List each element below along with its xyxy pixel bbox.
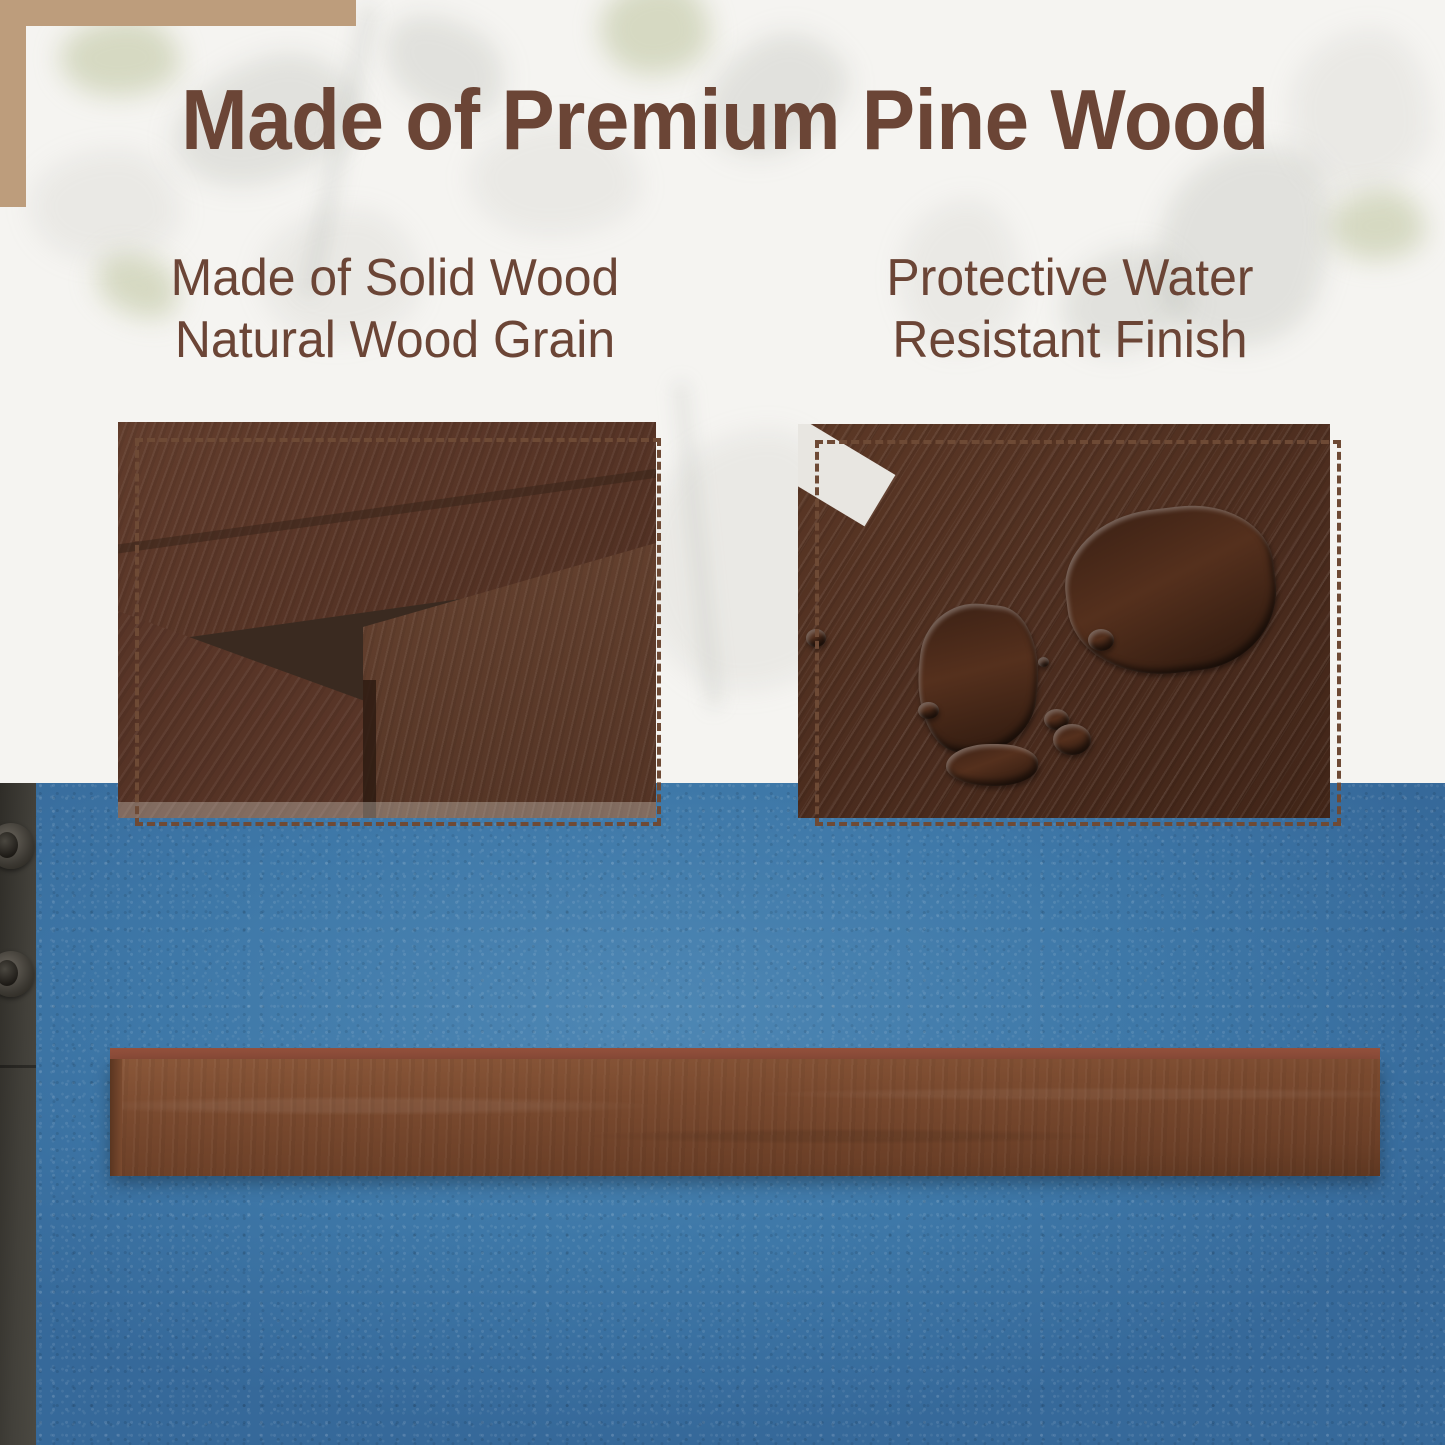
leaf-shadow bbox=[600, 0, 710, 75]
callout-outline-water-resistant bbox=[815, 440, 1341, 826]
page-title: Made of Premium Pine Wood bbox=[100, 75, 1350, 167]
feature-heading-water-resistant: Protective Water Resistant Finish bbox=[811, 247, 1329, 371]
feature-heading-solid-wood: Made of Solid Wood Natural Wood Grain bbox=[121, 247, 668, 371]
corner-accent-top-left bbox=[0, 0, 356, 26]
door-panel bbox=[0, 783, 36, 1445]
shelf-wood-grain bbox=[110, 1059, 1380, 1176]
feature-heading-line1: Protective Water bbox=[886, 249, 1253, 307]
door-knob-inner bbox=[0, 960, 18, 986]
leaf-shadow bbox=[1330, 190, 1425, 260]
door-knob-inner bbox=[0, 832, 18, 858]
lifestyle-scene bbox=[0, 783, 1445, 1445]
feature-heading-line2: Resistant Finish bbox=[811, 309, 1329, 371]
shelf-left-end-cap bbox=[110, 1059, 122, 1176]
door-seam bbox=[0, 1065, 36, 1068]
floating-mantel-shelf bbox=[110, 1048, 1380, 1176]
callout-outline-solid-wood bbox=[135, 438, 661, 826]
corner-accent-left-bar bbox=[0, 0, 26, 207]
feature-heading-line1: Made of Solid Wood bbox=[171, 249, 620, 307]
door-knob-icon bbox=[0, 823, 34, 869]
door-knob-icon bbox=[0, 951, 34, 997]
marketing-banner: Made of Premium Pine Wood Made of Solid … bbox=[0, 0, 1445, 1445]
feature-heading-line2: Natural Wood Grain bbox=[121, 309, 668, 371]
